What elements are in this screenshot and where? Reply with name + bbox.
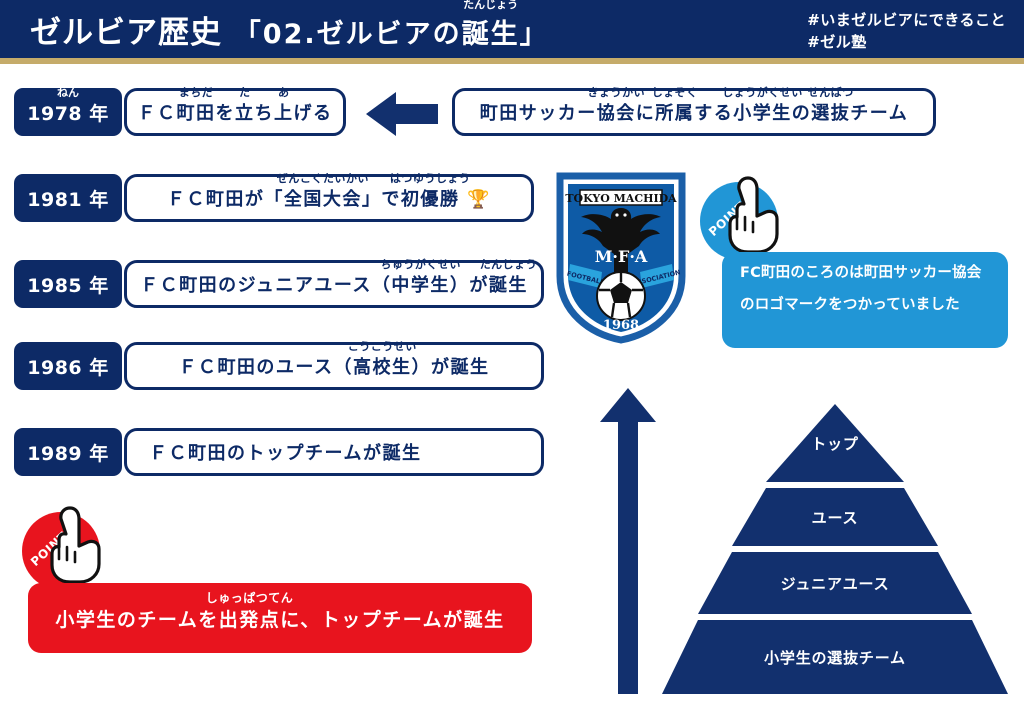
year-ruby-group: ねん1978 年: [27, 99, 109, 126]
year-badge-1985: 1985 年: [14, 260, 122, 308]
slide-root: ゼルビア歴史 「02.ゼルビアのたんじょう誕生」 #いまゼルビアにできること #…: [0, 0, 1024, 709]
pyramid-diagram: トップユースジュニアユース小学生の選抜チーム: [662, 404, 1008, 694]
event-text-origin-team: 町田サッカーきょうかい協会にしょぞく所属するしょうがくせい小学生のせんばつ選抜チ…: [480, 99, 908, 125]
hashtag-block: #いまゼルビアにできること #ゼル塾: [807, 10, 1006, 54]
banner-red-text: 小学生のチームをしゅっぱつてん出発点に、トップチームが誕生: [55, 605, 504, 632]
pyramid-tier-label-0: トップ: [811, 433, 858, 454]
header-gold-rule: [0, 58, 1024, 64]
year-badge-1981: 1981 年: [14, 174, 122, 222]
page-title-main: ゼルビア歴史: [30, 15, 222, 51]
crest-year: 1968: [603, 318, 639, 333]
event-text-1986: ＦＣ町田のユース（こうこうせい高校生）が誕生: [178, 353, 489, 379]
arrow-left-icon: [366, 92, 438, 136]
callout-blue-line-1: FC町田のころのは町田サッカー協会: [740, 266, 992, 282]
year-badge-1989: 1989 年: [14, 428, 122, 476]
hashtag-2: #ゼル塾: [807, 32, 1006, 54]
crest-top-text: TOKYO MACHIDA: [565, 192, 677, 205]
event-box-1989: ＦＣ町田のトップチームが誕生: [124, 428, 544, 476]
mfa-club-crest: TOKYO MACHIDA M·F·A FOOTBALL ASSOCIATION…: [556, 172, 686, 344]
hashtag-1: #いまゼルビアにできること: [807, 10, 1006, 32]
page-title-quote-open: 「02.ゼルビアの: [234, 19, 462, 50]
event-text-1981: ＦＣ町田が「ぜんこくたいかい全国大会」ではつゆうしょう初優勝 🏆: [167, 185, 491, 211]
page-title-ruby-base: 誕生: [462, 19, 520, 50]
page-title-ruby-group: たんじょう誕生: [462, 12, 520, 51]
pyramid-tier-1: ユース: [732, 488, 938, 546]
page-title-quote-close: 」: [520, 19, 549, 50]
event-box-1981: ＦＣ町田が「ぜんこくたいかい全国大会」ではつゆうしょう初優勝 🏆: [124, 174, 534, 222]
pyramid-tier-3: 小学生の選抜チーム: [662, 620, 1008, 694]
event-box-origin-team: 町田サッカーきょうかい協会にしょぞく所属するしょうがくせい小学生のせんばつ選抜チ…: [452, 88, 936, 136]
pointing-hand-icon-blue: [722, 172, 786, 256]
arrow-up-icon: [600, 388, 656, 694]
page-title-ruby-text: たんじょう: [463, 0, 518, 10]
banner-red: 小学生のチームをしゅっぱつてん出発点に、トップチームが誕生: [28, 583, 532, 653]
event-text-1985: ＦＣ町田のジュニアユース（ちゅうがくせい中学生）がたんじょう誕生: [140, 271, 528, 297]
event-box-1985: ＦＣ町田のジュニアユース（ちゅうがくせい中学生）がたんじょう誕生: [124, 260, 544, 308]
pyramid-tier-label-2: ジュニアユース: [781, 573, 890, 594]
event-box-1986: ＦＣ町田のユース（こうこうせい高校生）が誕生: [124, 342, 544, 390]
pointing-hand-icon-red: [44, 502, 108, 586]
event-text-1989: ＦＣ町田のトップチームが誕生: [149, 439, 421, 465]
pyramid-tier-label-1: ユース: [812, 507, 859, 528]
callout-blue-line-2: のロゴマークをつかっていました: [740, 298, 992, 314]
event-text-1978: ＦＣまちだ町田をた立ちあ上げる: [138, 99, 333, 125]
year-badge-1986: 1986 年: [14, 342, 122, 390]
event-box-1978: ＦＣまちだ町田をた立ちあ上げる: [124, 88, 346, 136]
pyramid-tier-2: ジュニアユース: [698, 552, 972, 614]
year-badge-1978: ねん1978 年: [14, 88, 122, 136]
crest-initials: M·F·A: [595, 247, 648, 266]
callout-blue: FC町田のころのは町田サッカー協会 のロゴマークをつかっていました: [722, 252, 1008, 348]
page-title: ゼルビア歴史 「02.ゼルビアのたんじょう誕生」: [30, 7, 549, 52]
pyramid-tier-label-3: 小学生の選抜チーム: [764, 647, 906, 668]
pyramid-tier-0: トップ: [766, 404, 904, 482]
